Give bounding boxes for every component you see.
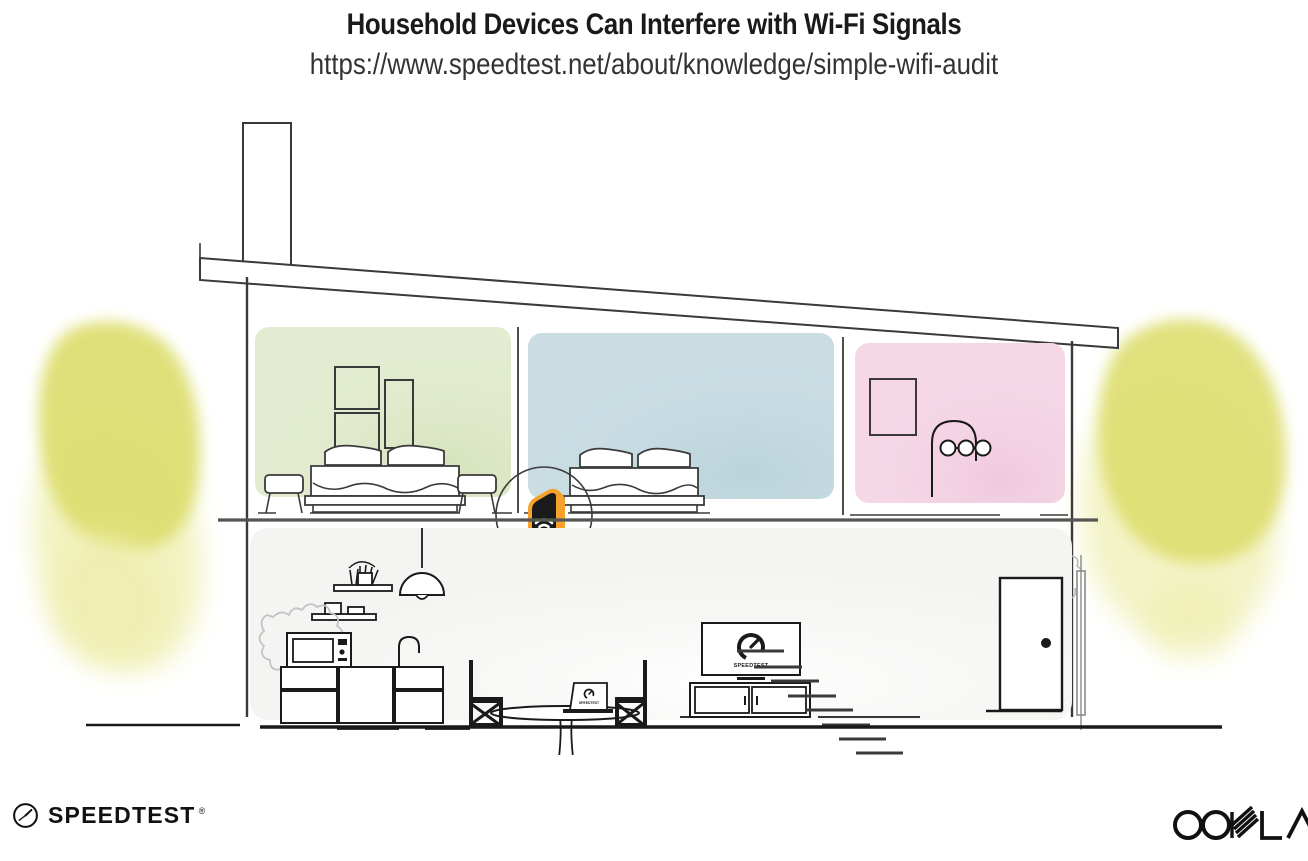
ookla-logo[interactable]	[1166, 804, 1308, 844]
speedtest-trademark: ®	[199, 806, 206, 816]
side-window	[1077, 555, 1085, 730]
microwave	[287, 633, 351, 667]
tv-stand	[737, 677, 765, 680]
header: Household Devices Can Interfere with Wi-…	[0, 0, 1308, 82]
chimney	[243, 123, 291, 275]
house-cutaway-diagram: SPEEDTEST	[0, 105, 1308, 755]
bush-right	[1082, 319, 1286, 660]
kitchen-cabinets	[281, 667, 443, 723]
speedtest-gauge-icon	[12, 802, 39, 829]
door-knob	[1041, 638, 1051, 648]
laptop-brand-label: SPEEDTEST	[579, 701, 600, 705]
room-green-bedroom	[255, 327, 512, 513]
ookla-logo-icon	[1166, 804, 1308, 844]
speedtest-wordmark: SPEEDTEST	[48, 802, 196, 829]
page-title: Household Devices Can Interfere with Wi-…	[92, 0, 1217, 42]
footer: SPEEDTEST ®	[0, 790, 1308, 861]
bush-left	[33, 321, 201, 671]
wall-shelf-lower	[312, 614, 376, 620]
room-ground-floor: SPEEDTEST SPEEDTEST	[250, 528, 1072, 755]
speedtest-logo[interactable]: SPEEDTEST ®	[12, 802, 205, 829]
page-url: https://www.speedtest.net/about/knowledg…	[92, 42, 1217, 82]
ground-line	[86, 725, 1222, 727]
house-illustration: SPEEDTEST	[0, 105, 1308, 755]
media-console	[690, 683, 810, 717]
wall-shelf-upper	[334, 585, 392, 591]
